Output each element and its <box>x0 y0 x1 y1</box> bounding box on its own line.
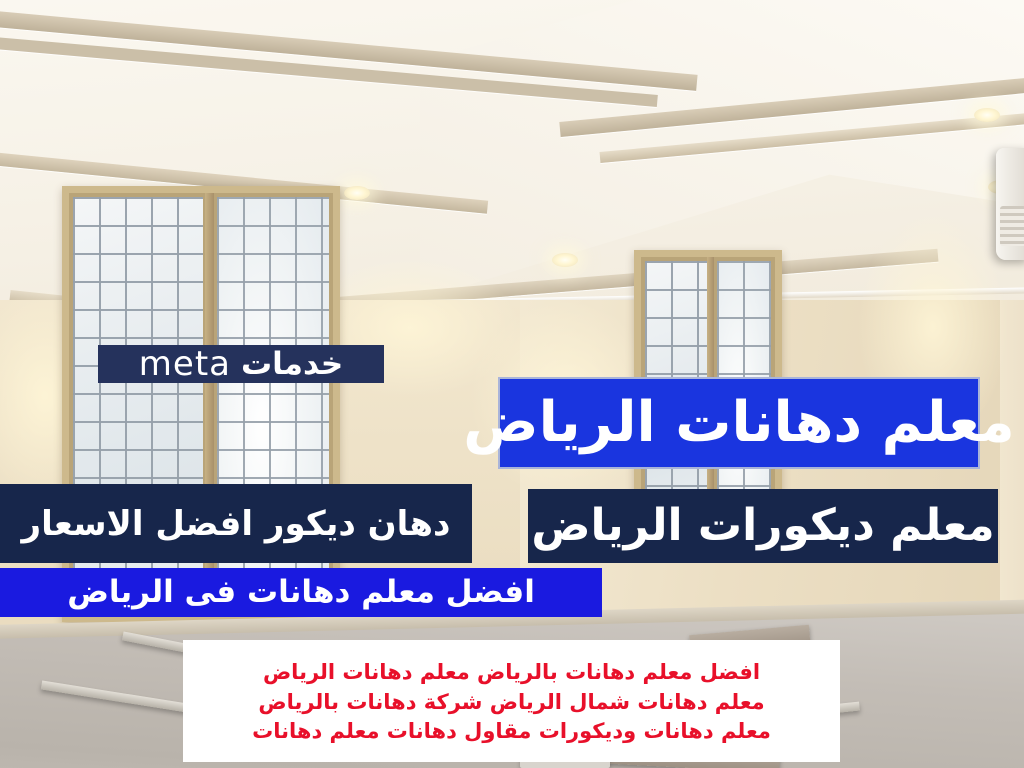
left-blue-banner: افضل معلم دهانات فى الرياض <box>0 568 602 617</box>
headline-text: معلم دهانات الرياض <box>463 395 1014 451</box>
meta-services-badge: خدمات meta <box>98 345 384 383</box>
left-navy-text: دهان ديكور افضل الاسعار <box>22 507 451 541</box>
keyword-line: معلم دهانات شمال الرياض شركة دهانات بالر… <box>258 689 764 716</box>
ad-image-canvas: خدمات meta معلم دهانات الرياض معلم ديكور… <box>0 0 1024 768</box>
recessed-downlight <box>552 253 578 267</box>
keyword-line: افضل معلم دهانات بالرياض معلم دهانات الر… <box>263 659 760 686</box>
badge-arabic-label: خدمات <box>241 349 343 380</box>
keyword-list-box: افضل معلم دهانات بالرياض معلم دهانات الر… <box>183 640 840 762</box>
ac-vent-louvers <box>1000 206 1024 246</box>
headline-banner: معلم دهانات الرياض <box>498 377 980 469</box>
wall-mounted-ac-unit <box>996 148 1024 260</box>
left-navy-banner: دهان ديكور افضل الاسعار <box>0 484 472 563</box>
subheadline-text: معلم ديكورات الرياض <box>531 504 994 548</box>
recessed-downlight <box>974 108 1000 122</box>
meta-wordmark: meta <box>139 347 231 381</box>
recessed-downlight <box>344 186 370 200</box>
left-blue-text: افضل معلم دهانات فى الرياض <box>67 577 535 608</box>
subheadline-banner: معلم ديكورات الرياض <box>528 489 998 563</box>
keyword-line: معلم دهانات وديكورات مقاول دهانات معلم د… <box>252 718 771 745</box>
